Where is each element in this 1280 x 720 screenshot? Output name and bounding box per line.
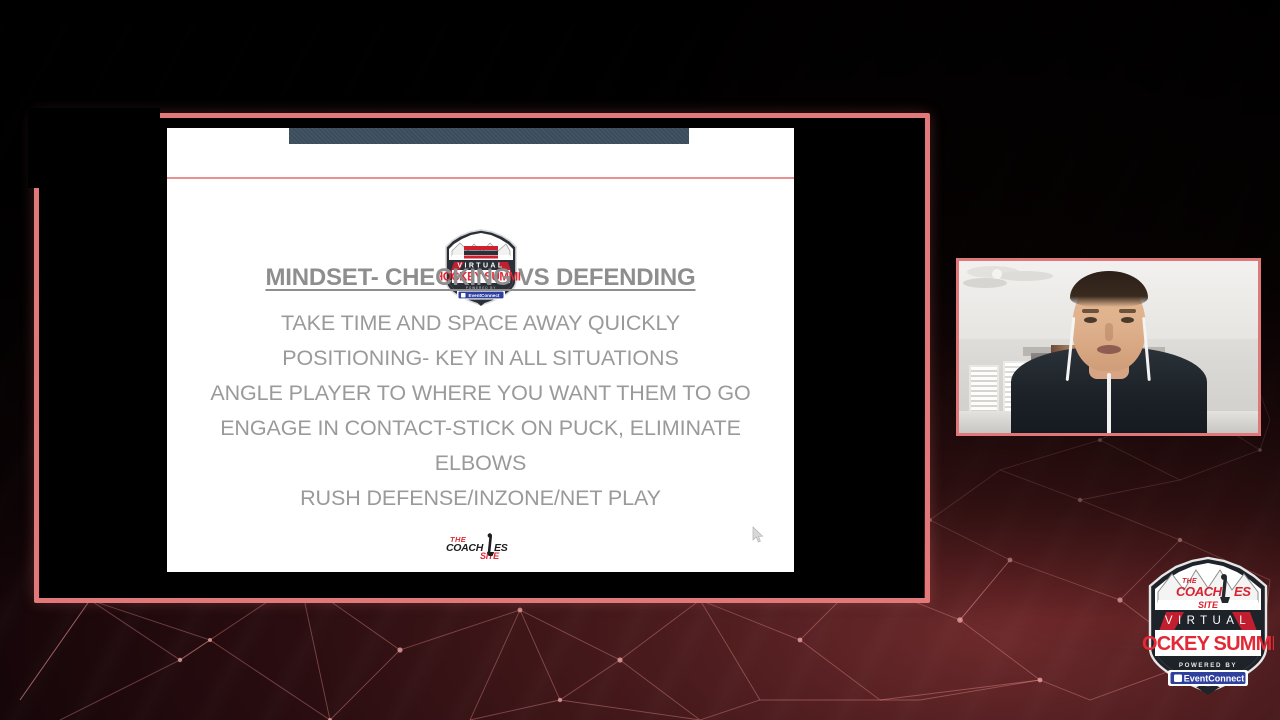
presenter-mouth	[1097, 345, 1121, 354]
presenter-eye-right	[1121, 317, 1134, 323]
slide-bullet-4: ENGAGE IN CONTACT-STICK ON PUCK, ELIMINA…	[181, 411, 780, 481]
corner-summit-watermark-logo: THE COACH ES SITE VIRTUAL HOCKEY SUMMIT …	[1142, 556, 1274, 696]
slide-text-block: MINDSET- CHECKING VS DEFENDING TAKE TIME…	[181, 264, 780, 516]
ceiling-fan-icon	[963, 263, 1059, 303]
presenter-earbud-cord	[1107, 373, 1111, 436]
svg-text:SITE: SITE	[1198, 600, 1219, 610]
svg-text:EventConnect: EventConnect	[1184, 674, 1245, 684]
slide-footer-coaches-site-logo: THE COACH ES SITE	[444, 532, 518, 560]
frame-mask-top	[30, 108, 160, 122]
presenter-video-tile[interactable]: man wearing wired earbuds and dark polo …	[956, 258, 1261, 436]
presenter-nose	[1105, 323, 1113, 341]
svg-text:ES: ES	[1234, 584, 1251, 599]
slide-title: MINDSET- CHECKING VS DEFENDING	[181, 264, 780, 292]
slide-horizontal-rule	[167, 177, 794, 179]
slide-canvas: VIRTUAL HOCKEY SUMMIT POWERED BY EventCo…	[167, 128, 794, 572]
presentation-stage: VIRTUAL HOCKEY SUMMIT POWERED BY EventCo…	[0, 0, 1280, 720]
svg-text:VIRTUAL: VIRTUAL	[1165, 615, 1251, 627]
svg-text:POWERED BY: POWERED BY	[1179, 662, 1237, 669]
presenter-eyebrow-right	[1119, 309, 1136, 313]
slide-bullet-3: ANGLE PLAYER TO WHERE YOU WANT THEM TO G…	[181, 376, 780, 411]
presenter-eye-left	[1084, 317, 1097, 323]
presenter-eyebrow-left	[1082, 309, 1099, 313]
svg-text:HOCKEY SUMMIT: HOCKEY SUMMIT	[1142, 633, 1274, 655]
svg-text:COACH: COACH	[1176, 584, 1223, 599]
slide-bullet-2: POSITIONING- KEY IN ALL SITUATIONS	[181, 341, 780, 376]
mouse-pointer-icon	[752, 526, 764, 544]
frame-mask-left	[28, 108, 44, 188]
svg-text:COACH: COACH	[446, 542, 484, 554]
slide-bullet-1: TAKE TIME AND SPACE AWAY QUICKLY	[181, 306, 780, 341]
slide-top-accent-bar	[289, 128, 689, 144]
slide-bullet-5: RUSH DEFENSE/INZONE/NET PLAY	[181, 481, 780, 516]
